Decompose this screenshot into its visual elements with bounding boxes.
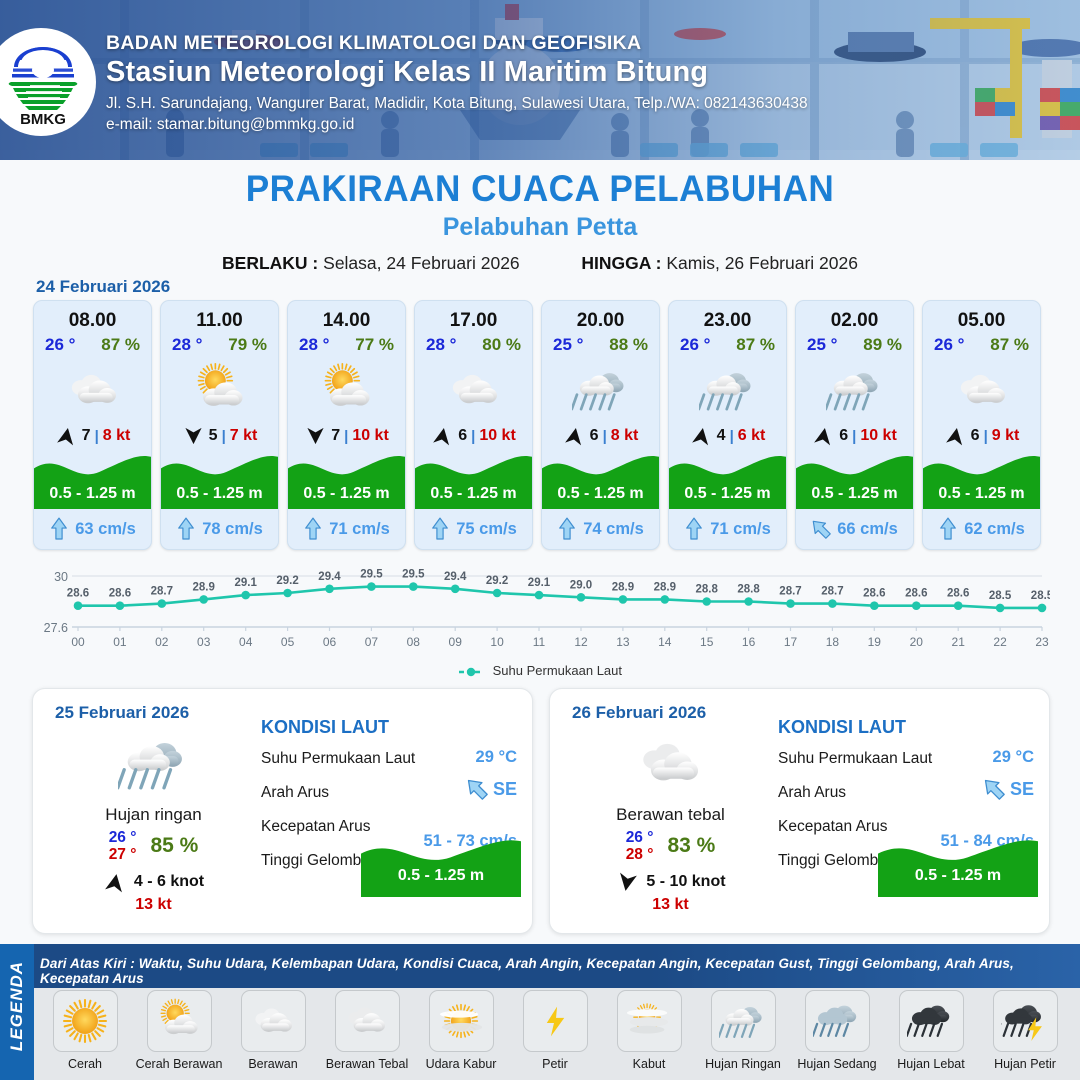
sst-value: 29 °C [993,748,1034,767]
hourly-card: 17.00 28 ° 80 % 6 | [414,300,533,550]
card-current-speed: 71 cm/s [329,520,390,539]
svg-text:01: 01 [113,635,127,649]
petir-icon [523,990,588,1052]
legend-item-label: Berawan Tebal [320,1057,414,1071]
card-wave-height: 0.5 - 1.25 m [669,485,786,503]
current-direction-arrow-icon [938,517,958,541]
svg-text:28.7: 28.7 [151,586,173,598]
wind-direction-arrow-icon [563,427,586,445]
hujan-ringan-icon [51,727,256,801]
legend-item-label: Kabut [602,1057,696,1071]
chart-legend-marker [458,666,484,678]
card-gust: 8 kt [103,427,131,445]
svg-text:28.7: 28.7 [779,586,801,598]
legend-item-label: Hujan Ringan [696,1057,790,1071]
wind-direction-arrow-icon [182,427,205,445]
card-humidity: 87 % [736,335,775,355]
valid-from-label: BERLAKU : [222,253,318,273]
card-time: 05.00 [923,310,1040,332]
panel-humidity: 83 % [667,834,715,858]
card-wind-speed: 7 [331,427,340,445]
card-wave-height: 0.5 - 1.25 m [542,485,659,503]
hujan-sedang-icon [805,990,870,1052]
berawan-icon [923,359,1040,421]
svg-text:04: 04 [239,635,253,649]
legend-item-label: Udara Kabur [414,1057,508,1071]
current-direction-arrow-icon [684,517,704,541]
panel-gust: 13 kt [568,896,773,914]
hujan-ringan-icon [542,359,659,421]
svg-text:07: 07 [365,635,379,649]
card-wind-speed: 6 [839,427,848,445]
hourly-card: 08.00 26 ° 87 % 7 | [33,300,152,550]
legend-icon-list: Cerah Cerah Berawan [38,990,1076,1071]
svg-text:27.6: 27.6 [44,621,68,635]
legend-tab-label: LEGENDA [7,954,27,1058]
card-time: 23.00 [669,310,786,332]
svg-text:28.8: 28.8 [696,584,719,596]
card-temperature: 26 ° [934,335,964,355]
svg-text:29.0: 29.0 [570,579,592,591]
legend-item-label: Cerah Berawan [132,1057,226,1071]
legend-item-label: Petir [508,1057,602,1071]
cerah-icon [53,990,118,1052]
card-temperature: 26 ° [680,335,710,355]
wind-direction-arrow-icon [944,427,967,445]
svg-text:14: 14 [658,635,672,649]
current-direction-label: Arah Arus [778,784,846,802]
card-wind-speed: 6 [458,427,467,445]
card-temperature: 28 ° [299,335,329,355]
hourly-card: 23.00 26 ° 87 % 4 | [668,300,787,550]
svg-text:28.9: 28.9 [612,581,634,593]
panel-temp-min: 26 ° [626,829,654,846]
card-humidity: 77 % [355,335,394,355]
chart-legend: Suhu Permukaan Laut [0,663,1080,678]
panel-temp-min: 26 ° [109,829,137,846]
card-humidity: 79 % [228,335,267,355]
card-current-speed: 74 cm/s [583,520,644,539]
panel-wave-value: 0.5 - 1.25 m [878,867,1038,885]
card-current-speed: 62 cm/s [964,520,1025,539]
agency-name: BADAN METEOROLOGI KLIMATOLOGI DAN GEOFIS… [106,32,808,55]
svg-text:29.2: 29.2 [276,575,298,587]
berawan-tebal-icon [568,727,773,801]
panel-wave-value: 0.5 - 1.25 m [361,867,521,885]
wind-direction-arrow-icon [812,427,835,445]
card-wave-height: 0.5 - 1.25 m [923,485,1040,503]
separator: | [852,428,856,445]
legend-footer: Dari Atas Kiri : Waktu, Suhu Udara, Kele… [0,944,1080,1080]
card-gust: 9 kt [992,427,1020,445]
svg-text:05: 05 [281,635,295,649]
card-time: 08.00 [34,310,151,332]
svg-text:28.9: 28.9 [193,581,215,593]
station-address: Jl. S.H. Sarundajang, Wangurer Barat, Ma… [106,95,808,113]
wind-direction-arrow-icon [615,873,639,892]
hourly-card: 11.00 28 ° 79 % 5 | 7 kt [160,300,279,550]
svg-text:BMKG: BMKG [20,111,66,128]
valid-to-value: Kamis, 26 Februari 2026 [666,253,858,273]
kabut-icon [617,990,682,1052]
sea-condition-title: KONDISI LAUT [261,717,519,738]
svg-text:28.5: 28.5 [1031,590,1050,602]
svg-text:15: 15 [700,635,714,649]
hourly-date-label: 24 Februari 2026 [36,277,170,297]
panel-date: 26 Februari 2026 [572,703,706,723]
svg-text:02: 02 [155,635,169,649]
hujan-ringan-icon [796,359,913,421]
legend-item: Petir [508,990,602,1071]
station-email: e-mail: stamar.bitung@bmmkg.go.id [106,116,808,134]
separator: | [603,428,607,445]
card-time: 20.00 [542,310,659,332]
legend-item-label: Berawan [226,1057,320,1071]
svg-text:28.8: 28.8 [737,584,760,596]
hourly-card: 14.00 28 ° 77 % 7 | 10 kt [287,300,406,550]
wind-direction-arrow-icon [103,873,127,892]
separator: | [984,428,988,445]
card-humidity: 89 % [863,335,902,355]
panel-wind: 5 - 10 knot [646,873,725,891]
hourly-card: 05.00 26 ° 87 % 6 | [922,300,1041,550]
card-humidity: 80 % [482,335,521,355]
panel-temp-max: 28 ° [626,846,654,863]
separator: | [344,428,348,445]
current-direction-arrow-icon [982,776,1006,802]
card-wind-speed: 4 [717,427,726,445]
panel-gust: 13 kt [51,896,256,914]
current-direction-arrow-icon [430,517,450,541]
hourly-card: 02.00 25 ° 89 % 6 | [795,300,914,550]
card-gust: 10 kt [352,427,388,445]
card-wave-height: 0.5 - 1.25 m [288,485,405,503]
card-current-speed: 71 cm/s [710,520,771,539]
hourly-forecast-row: 08.00 26 ° 87 % 7 | [33,300,1049,550]
legend-item: Berawan Tebal [320,990,414,1071]
berawan-icon [415,359,532,421]
hujan-petir-icon [993,990,1058,1052]
card-time: 14.00 [288,310,405,332]
legend-item: Hujan Sedang [790,990,884,1071]
card-humidity: 87 % [990,335,1029,355]
card-wave-height: 0.5 - 1.25 m [415,485,532,503]
legend-tab: LEGENDA [0,944,34,1080]
current-direction-value: SE [493,779,517,800]
current-direction-arrow-icon [49,517,69,541]
legend-item: Hujan Ringan [696,990,790,1071]
svg-text:28.6: 28.6 [947,588,969,600]
svg-text:28.6: 28.6 [863,588,885,600]
bmkg-logo-icon: BMKG [2,38,84,128]
wind-direction-arrow-icon [304,427,327,445]
card-time: 02.00 [796,310,913,332]
page-header: BMKG BADAN METEOROLOGI KLIMATOLOGI DAN G… [0,0,1080,160]
bmkg-logo: BMKG [0,28,96,136]
sst-label: Suhu Permukaan Laut [778,750,932,768]
svg-text:29.1: 29.1 [528,577,551,589]
validity-row: BERLAKU : Selasa, 24 Februari 2026 HINGG… [0,253,1080,274]
card-humidity: 87 % [101,335,140,355]
current-speed-label: Kecepatan Arus [261,818,370,836]
svg-text:12: 12 [574,635,588,649]
cerah-berawan-icon [147,990,212,1052]
daily-forecast-panel: 25 Februari 2026 Hujan ringan 26 ° [32,688,533,934]
svg-text:29.4: 29.4 [444,571,467,583]
card-wind-speed: 5 [209,427,218,445]
legend-item-label: Cerah [38,1057,132,1071]
panel-wave-graphic [361,835,521,897]
card-time: 11.00 [161,310,278,332]
svg-text:20: 20 [910,635,924,649]
card-current-speed: 66 cm/s [837,520,898,539]
cerah-berawan-icon [161,359,278,421]
svg-text:29.2: 29.2 [486,575,508,587]
current-direction-arrow-icon [465,776,489,802]
panel-wave-graphic [878,835,1038,897]
page-title: PRAKIRAAN CUACA PELABUHAN [27,168,1053,210]
sea-condition-title: KONDISI LAUT [778,717,1036,738]
legend-item: Hujan Lebat [884,990,978,1071]
berawan-icon [241,990,306,1052]
svg-text:00: 00 [71,635,85,649]
separator: | [730,428,734,445]
svg-text:28.6: 28.6 [905,588,927,600]
wind-direction-arrow-icon [431,427,454,445]
current-direction-label: Arah Arus [261,784,329,802]
card-current-speed: 75 cm/s [456,520,517,539]
svg-text:23: 23 [1035,635,1049,649]
svg-text:28.7: 28.7 [821,586,843,598]
svg-text:19: 19 [868,635,882,649]
wind-direction-arrow-icon [55,427,78,445]
svg-text:30: 30 [54,570,68,584]
separator: | [471,428,475,445]
panel-humidity: 85 % [150,834,198,858]
hujan-lebat-icon [899,990,964,1052]
svg-text:28.5: 28.5 [989,590,1012,602]
berawan-tebal-icon [335,990,400,1052]
card-wave-height: 0.5 - 1.25 m [161,485,278,503]
card-gust: 6 kt [738,427,766,445]
svg-text:03: 03 [197,635,211,649]
card-temperature: 26 ° [45,335,75,355]
card-temperature: 28 ° [172,335,202,355]
svg-text:13: 13 [616,635,630,649]
svg-text:22: 22 [993,635,1007,649]
svg-text:08: 08 [407,635,421,649]
card-wind-speed: 6 [971,427,980,445]
sst-label: Suhu Permukaan Laut [261,750,415,768]
sst-chart: 3027.628.60028.60128.70228.90329.10429.2… [30,560,1050,655]
panel-condition: Berawan tebal [568,805,773,825]
svg-text:28.6: 28.6 [67,588,89,600]
card-current-speed: 78 cm/s [202,520,263,539]
card-current-speed: 63 cm/s [75,520,136,539]
svg-text:29.5: 29.5 [360,569,383,581]
legend-item: Udara Kabur [414,990,508,1071]
svg-text:17: 17 [784,635,798,649]
svg-text:29.1: 29.1 [235,577,258,589]
svg-text:28.6: 28.6 [109,588,131,600]
wind-direction-arrow-icon [690,427,713,445]
panel-condition: Hujan ringan [51,805,256,825]
panel-date: 25 Februari 2026 [55,703,189,723]
legend-item-label: Hujan Petir [978,1057,1072,1071]
card-temperature: 25 ° [807,335,837,355]
separator: | [222,428,226,445]
hourly-card: 20.00 25 ° 88 % 6 | [541,300,660,550]
legend-item-label: Hujan Lebat [884,1057,978,1071]
card-wind-speed: 6 [590,427,599,445]
svg-text:10: 10 [490,635,504,649]
current-direction-arrow-icon [557,517,577,541]
sst-value: 29 °C [476,748,517,767]
berawan-icon [34,359,151,421]
page-title-block: PRAKIRAAN CUACA PELABUHAN Pelabuhan Pett… [0,168,1080,242]
daily-forecast-panels: 25 Februari 2026 Hujan ringan 26 ° [32,688,1050,934]
current-direction-arrow-icon [811,517,831,541]
hujan-ringan-icon [711,990,776,1052]
card-gust: 7 kt [230,427,258,445]
panel-wind: 4 - 6 knot [134,873,204,891]
port-name: Pelabuhan Petta [0,213,1080,242]
current-direction-arrow-icon [303,517,323,541]
card-temperature: 28 ° [426,335,456,355]
legend-note: Dari Atas Kiri : Waktu, Suhu Udara, Kele… [40,956,1080,986]
card-gust: 10 kt [860,427,896,445]
card-wave-height: 0.5 - 1.25 m [796,485,913,503]
svg-text:28.9: 28.9 [654,581,676,593]
hujan-ringan-icon [669,359,786,421]
card-gust: 10 kt [479,427,515,445]
current-direction-value: SE [1010,779,1034,800]
legend-item-label: Hujan Sedang [790,1057,884,1071]
card-humidity: 88 % [609,335,648,355]
cerah-berawan-icon [288,359,405,421]
svg-text:29.4: 29.4 [318,571,341,583]
svg-text:21: 21 [952,635,966,649]
valid-from-value: Selasa, 24 Februari 2026 [323,253,520,273]
svg-text:16: 16 [742,635,756,649]
current-speed-label: Kecepatan Arus [778,818,887,836]
card-temperature: 25 ° [553,335,583,355]
svg-text:29.5: 29.5 [402,569,425,581]
svg-text:11: 11 [533,635,546,649]
station-name: Stasiun Meteorologi Kelas II Maritim Bit… [106,56,808,89]
card-time: 17.00 [415,310,532,332]
separator: | [95,428,99,445]
current-direction-arrow-icon [176,517,196,541]
card-gust: 8 kt [611,427,639,445]
svg-text:09: 09 [449,635,463,649]
legend-item: Cerah [38,990,132,1071]
daily-forecast-panel: 26 Februari 2026 Berawan tebal 26 ° [549,688,1050,934]
card-wind-speed: 7 [82,427,91,445]
card-wave-height: 0.5 - 1.25 m [34,485,151,503]
legend-item: Hujan Petir [978,990,1072,1071]
valid-to-label: HINGGA : [581,253,661,273]
legend-item: Cerah Berawan [132,990,226,1071]
udara-kabur-icon [429,990,494,1052]
panel-temp-max: 27 ° [109,846,137,863]
legend-item: Berawan [226,990,320,1071]
legend-item: Kabut [602,990,696,1071]
chart-legend-label: Suhu Permukaan Laut [493,663,622,678]
svg-text:18: 18 [826,635,840,649]
svg-text:06: 06 [323,635,337,649]
